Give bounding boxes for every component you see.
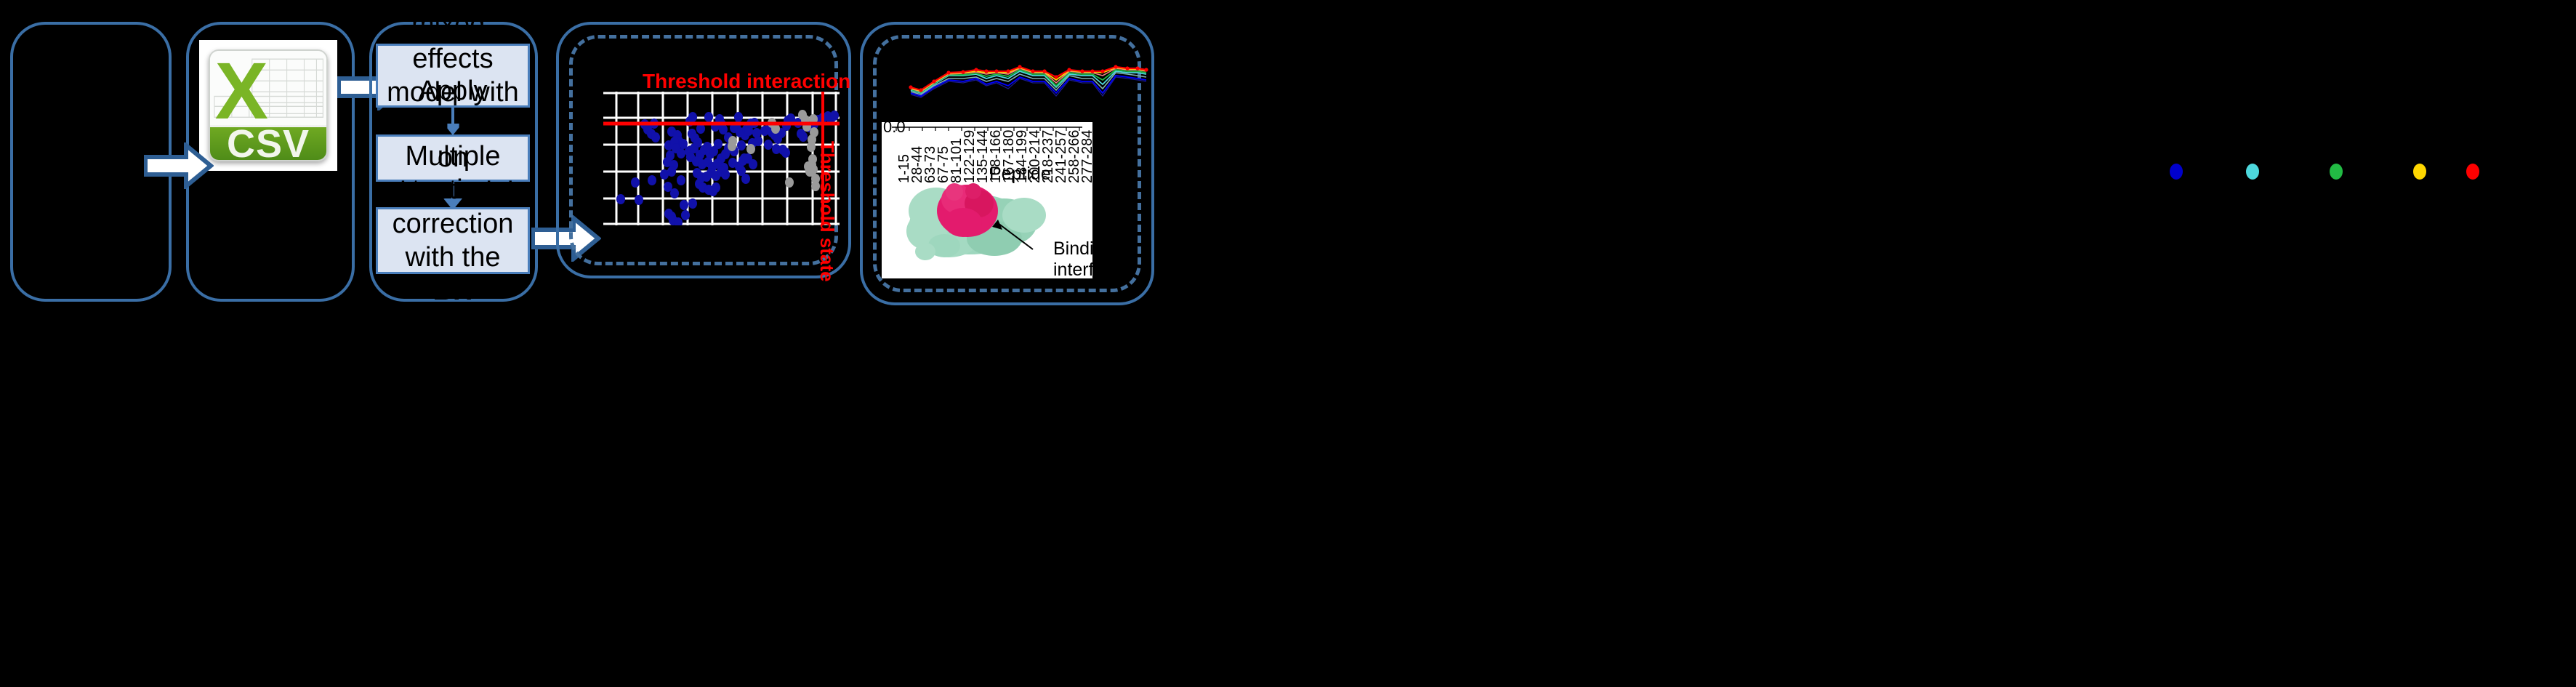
wald-line1-bold: Wald tests	[385, 109, 522, 140]
flow-box-bh: Multiple testing correction with the BH …	[376, 207, 530, 274]
bh-line3-post: procedure	[390, 310, 515, 340]
legend-dot-4	[2413, 164, 2426, 180]
csv-file-icon: X CSV	[209, 49, 327, 162]
bh-line3-bold: BH	[433, 276, 473, 306]
legend-dot-1	[2170, 164, 2183, 180]
peptide-lines-svg	[905, 51, 1152, 124]
csv-file-card: X CSV	[199, 40, 337, 171]
flow-box-bh-text: Multiple testing correction with the BH …	[384, 140, 522, 342]
peptide-tick-label: 277-284	[1079, 130, 1096, 183]
legend-dot-5	[2466, 164, 2479, 180]
reml-line1: Fit a linear mixed-	[388, 0, 517, 40]
bh-line3-pre: with the	[406, 242, 501, 273]
binding-annot-line1: Binding	[1053, 238, 1092, 260]
protein-surface-graphic	[906, 183, 1046, 260]
peptide-profile-chart	[905, 51, 1152, 124]
wald-line1-pre: Apply	[418, 76, 487, 106]
binding-interface-annotation: Binding interface	[1053, 238, 1092, 278]
binding-annot-line2: interface	[1053, 260, 1092, 278]
legend-dot-3	[2330, 164, 2343, 180]
arrow-to-csv	[144, 142, 214, 189]
legend-dot-2	[2246, 164, 2259, 180]
scatter-plot	[603, 92, 840, 225]
scatter-title-threshold-interaction: Threshold interaction	[643, 70, 850, 93]
scatter-plot-svg	[603, 92, 840, 225]
csv-x-letter: X	[215, 52, 264, 132]
bh-line2: correction	[393, 209, 514, 239]
bh-line1: Multiple testing	[406, 141, 501, 205]
scatter-vertical-label-threshold-state: Threshold state	[816, 141, 838, 282]
